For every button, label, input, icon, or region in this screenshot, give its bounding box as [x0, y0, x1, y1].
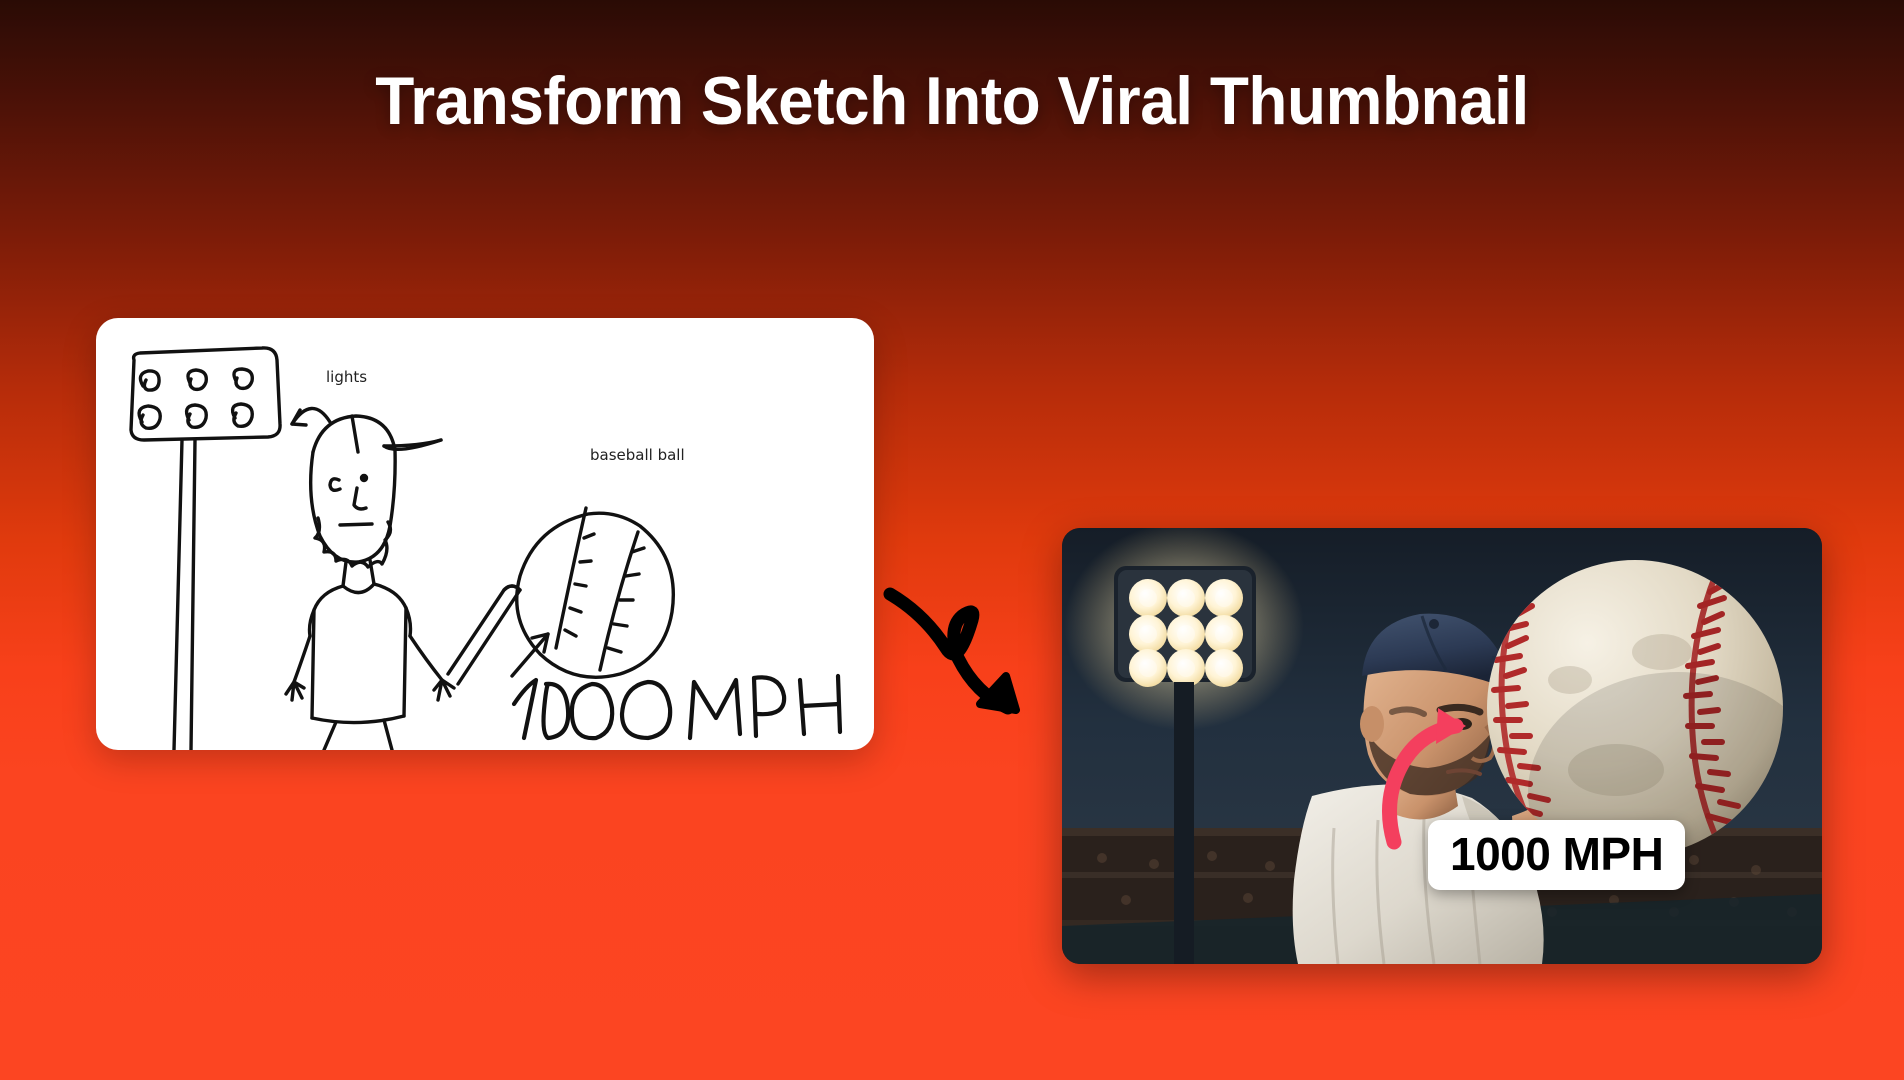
- arrow-head: [980, 676, 1016, 710]
- pink-arrow-head: [1436, 708, 1466, 744]
- speed-badge: 1000 MPH: [1428, 820, 1685, 890]
- page-title: Transform Sketch Into Viral Thumbnail: [57, 62, 1847, 140]
- thumbnail-card[interactable]: 1000 MPH: [1062, 528, 1822, 964]
- transition-arrow: [880, 572, 1050, 712]
- baseball-graphic: [1466, 556, 1804, 864]
- sketch-card[interactable]: lights baseball ball: [96, 318, 874, 750]
- sketch-drawing: lights baseball ball: [96, 318, 874, 750]
- sketch-label-baseball-ball: baseball ball: [590, 446, 685, 464]
- sketch-label-lights: lights: [326, 368, 367, 386]
